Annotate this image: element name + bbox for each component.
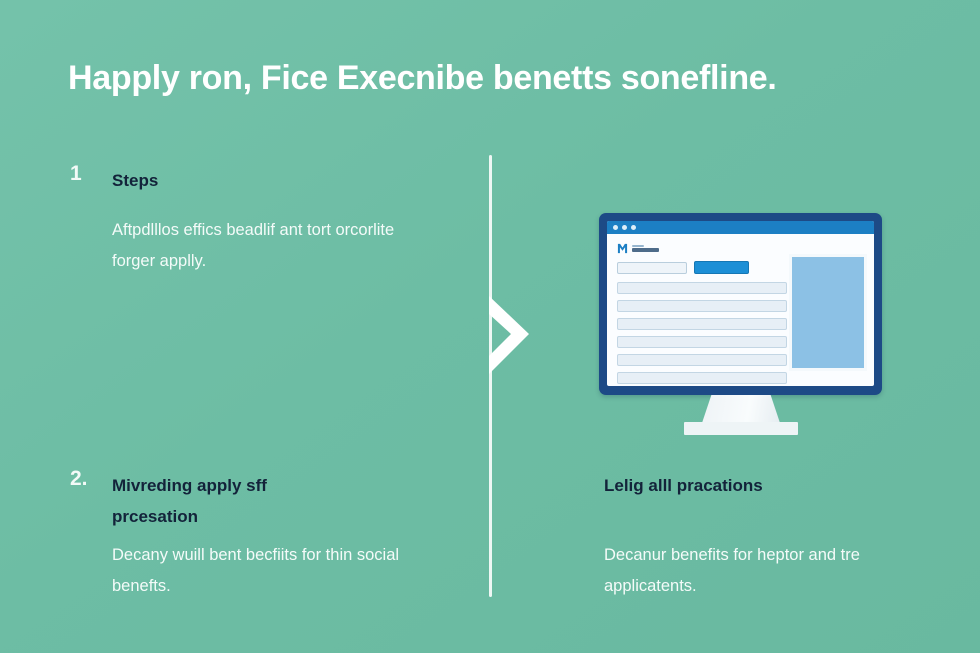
browser-titlebar	[607, 221, 874, 234]
brand-row	[617, 241, 866, 255]
window-dot-minimize-icon	[622, 225, 627, 230]
list-item[interactable]	[617, 300, 787, 312]
search-input[interactable]	[617, 262, 687, 274]
list-item[interactable]	[617, 372, 787, 384]
submit-button[interactable]	[694, 261, 749, 274]
infographic-canvas: Happly ron, Fice Execnibe benetts sonefl…	[0, 0, 980, 653]
preview-panel	[789, 254, 867, 371]
brand-wordmark-line-main	[632, 248, 659, 252]
step-heading: Mivreding apply sff prcesation	[112, 470, 342, 533]
vertical-divider	[489, 155, 492, 597]
right-column-heading: Lelig alll pracations	[604, 470, 844, 501]
step-body-text: Aftpdlllos effics beadlif ant tort orcor…	[112, 215, 412, 276]
result-list	[617, 282, 787, 384]
step-number: 2.	[70, 468, 104, 490]
window-dot-close-icon	[613, 225, 618, 230]
browser-page-content	[607, 234, 874, 382]
step-body-text: Decany wuill bent becfiits for thin soci…	[112, 540, 417, 601]
step-number: 1	[70, 163, 104, 185]
page-title: Happly ron, Fice Execnibe benetts sonefl…	[68, 58, 918, 99]
list-item[interactable]	[617, 336, 787, 348]
brand-wordmark-line-top	[632, 245, 644, 247]
desktop-monitor-illustration	[599, 213, 882, 437]
monitor-screen	[607, 221, 874, 386]
list-item[interactable]	[617, 354, 787, 366]
list-item[interactable]	[617, 318, 787, 330]
brand-wordmark	[632, 245, 659, 252]
monitor-stand-neck	[702, 395, 780, 423]
chevron-right-icon	[483, 294, 535, 376]
monitor-bezel	[599, 213, 882, 395]
step-heading: Steps	[112, 165, 327, 196]
window-controls	[613, 225, 636, 230]
brand-logo-mark-icon	[617, 243, 628, 254]
list-item[interactable]	[617, 282, 787, 294]
right-column-body-text: Decanur benefits for heptor and tre appl…	[604, 540, 914, 601]
monitor-stand-base	[684, 422, 798, 435]
window-dot-maximize-icon	[631, 225, 636, 230]
